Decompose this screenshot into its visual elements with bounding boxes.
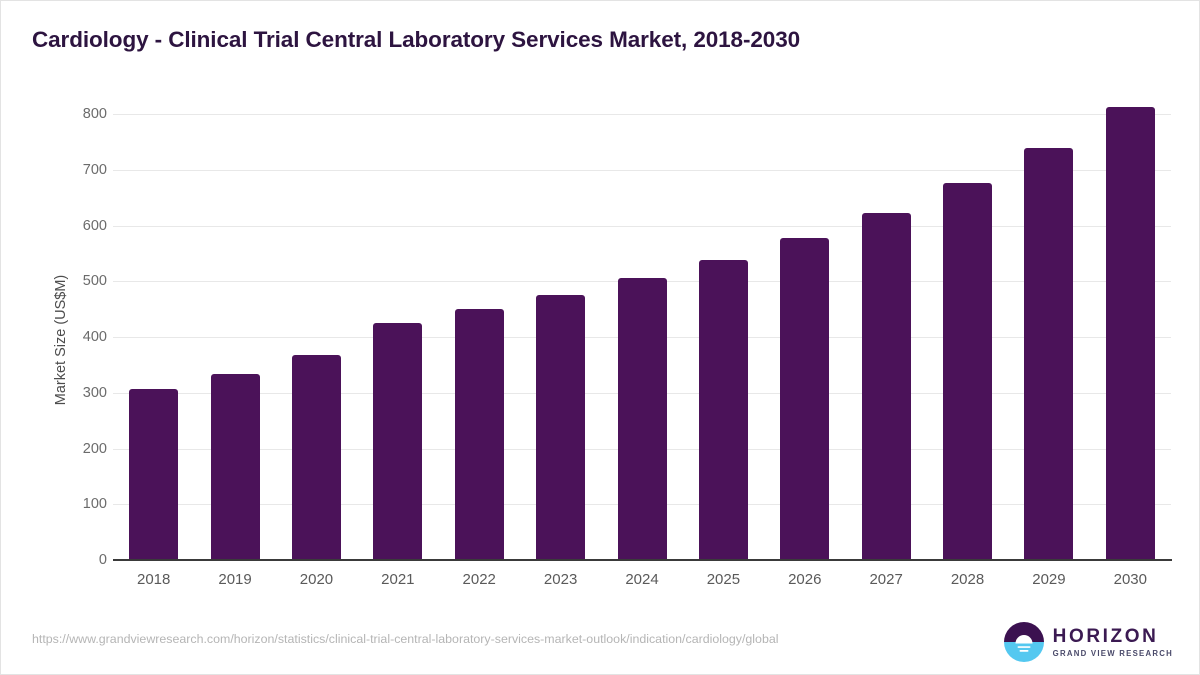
x-tick-label-2023: 2023 — [516, 571, 606, 588]
x-tick-label-2028: 2028 — [923, 571, 1013, 588]
bar-2022[interactable] — [455, 309, 504, 560]
bar-2027[interactable] — [862, 213, 911, 560]
horizon-logo-icon — [1004, 622, 1044, 662]
bar-2021[interactable] — [373, 323, 422, 560]
chart-figure: Market Size (US$M) 800700600500400300200… — [1, 1, 1200, 675]
logo-tagline: GRAND VIEW RESEARCH — [1053, 650, 1173, 658]
gridline — [113, 114, 1171, 115]
y-tick-label: 0 — [61, 552, 107, 568]
x-axis-line — [113, 559, 1172, 561]
bar-2020[interactable] — [292, 355, 341, 560]
x-tick-label-2020: 2020 — [271, 571, 361, 588]
y-tick-label: 700 — [61, 162, 107, 178]
y-tick-label: 600 — [61, 218, 107, 234]
gridline — [113, 226, 1171, 227]
bar-2025[interactable] — [699, 260, 748, 560]
chart-card: Cardiology - Clinical Trial Central Labo… — [0, 0, 1200, 675]
y-tick-label: 100 — [61, 496, 107, 512]
source-url[interactable]: https://www.grandviewresearch.com/horizo… — [32, 631, 894, 648]
x-tick-label-2018: 2018 — [109, 571, 199, 588]
plot-area — [113, 114, 1171, 560]
bar-2023[interactable] — [536, 295, 585, 560]
y-tick-label: 200 — [61, 441, 107, 457]
brand-logo: HORIZON GRAND VIEW RESEARCH — [1004, 620, 1173, 664]
x-tick-label-2027: 2027 — [841, 571, 931, 588]
bar-2028[interactable] — [943, 183, 992, 560]
bar-2024[interactable] — [618, 278, 667, 560]
bar-2026[interactable] — [780, 238, 829, 560]
y-tick-label: 800 — [61, 106, 107, 122]
x-tick-label-2022: 2022 — [434, 571, 524, 588]
x-tick-label-2026: 2026 — [760, 571, 850, 588]
bar-2018[interactable] — [129, 389, 178, 560]
logo-wordmark: HORIZON GRAND VIEW RESEARCH — [1053, 627, 1173, 658]
x-tick-label-2025: 2025 — [678, 571, 768, 588]
x-tick-label-2021: 2021 — [353, 571, 443, 588]
y-tick-label: 400 — [61, 329, 107, 345]
bar-2019[interactable] — [211, 374, 260, 560]
x-tick-label-2019: 2019 — [190, 571, 280, 588]
y-tick-label: 500 — [61, 273, 107, 289]
x-tick-label-2024: 2024 — [597, 571, 687, 588]
x-tick-label-2030: 2030 — [1085, 571, 1175, 588]
logo-name: HORIZON — [1053, 627, 1173, 646]
x-tick-label-2029: 2029 — [1004, 571, 1094, 588]
y-axis-ticks: 8007006005004003002001000 — [47, 1, 107, 675]
bar-2030[interactable] — [1106, 107, 1155, 560]
bar-2029[interactable] — [1024, 148, 1073, 560]
gridline — [113, 170, 1171, 171]
y-tick-label: 300 — [61, 385, 107, 401]
